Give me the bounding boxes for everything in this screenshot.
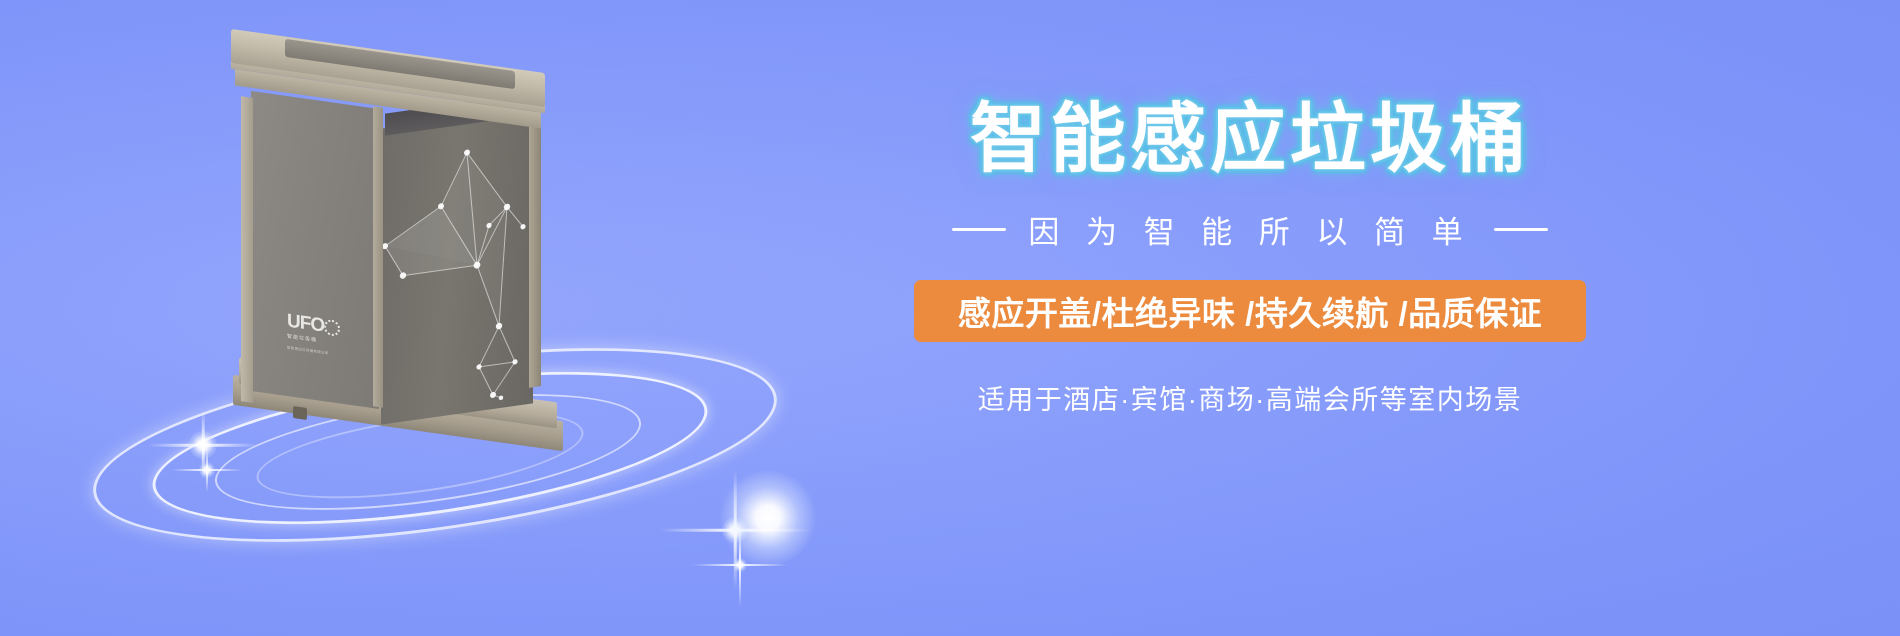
subtitle-row: 因 为 智 能 所 以 简 单 (720, 207, 1780, 252)
product-image: UFO 智能垃圾桶 智能感应垃圾桶有限公司 (95, 30, 715, 540)
promo-banner: UFO 智能垃圾桶 智能感应垃圾桶有限公司 (0, 0, 1900, 636)
bin-edge-right (529, 94, 541, 388)
brand-logo-ring-icon (324, 318, 340, 336)
feature-badge: 感应开盖/杜绝异味 /持久续航 /品质保证 (914, 280, 1586, 342)
bin-edge-left (241, 96, 253, 403)
bin-edge-center (373, 106, 383, 407)
subtitle: 因 为 智 能 所 以 简 单 (1028, 207, 1471, 252)
brand-logo-text: UFO (287, 312, 324, 336)
smart-trash-bin: UFO 智能垃圾桶 智能感应垃圾桶有限公司 (245, 55, 545, 455)
page-title: 智能感应垃圾桶 (720, 100, 1780, 181)
scene-description: 适用于酒店·宾馆·商场·高端会所等室内场景 (720, 378, 1780, 417)
bin-base-slot (293, 406, 307, 420)
dash-right-icon (1494, 228, 1548, 231)
dash-left-icon (952, 228, 1006, 231)
feature-badge-text: 感应开盖/杜绝异味 /持久续航 /品质保证 (958, 287, 1542, 335)
bin-side-panel (381, 107, 533, 424)
banner-copy: 智能感应垃圾桶 因 为 智 能 所 以 简 单 感应开盖/杜绝异味 /持久续航 … (720, 100, 1780, 417)
polygon-network-icon (381, 107, 533, 424)
